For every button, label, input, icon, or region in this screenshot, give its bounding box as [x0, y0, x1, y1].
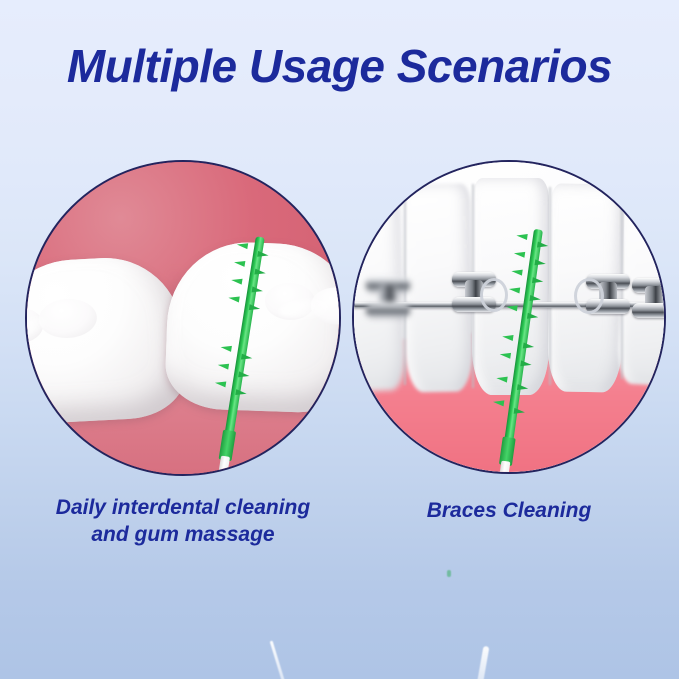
brush-handle [495, 461, 510, 474]
brush-handle [215, 456, 230, 476]
brush-bristle [499, 351, 511, 358]
brush-bristle [511, 268, 523, 275]
caption-daily-cleaning: Daily interdental cleaning and gum massa… [18, 494, 348, 548]
brush-bristle [234, 259, 246, 267]
decorative-streak [477, 646, 490, 679]
brush-bristle [516, 233, 528, 240]
brush-filament-core [225, 236, 265, 435]
interdental-brush-right [477, 226, 564, 474]
decorative-streak [270, 641, 286, 679]
page-title: Multiple Usage Scenarios [0, 40, 679, 92]
brush-bristle [493, 399, 505, 406]
brush-bristle [506, 304, 518, 311]
brush-bristle [236, 241, 248, 249]
brush-bristle [514, 250, 526, 257]
product-feature-banner: Multiple Usage Scenarios [0, 0, 679, 679]
brush-bristle [509, 286, 521, 293]
brush-bristle [220, 344, 232, 352]
caption-line: Daily interdental cleaning [18, 494, 348, 521]
braces-brush-layer [352, 160, 666, 474]
brush-bristle [228, 295, 240, 303]
decorative-speck [447, 570, 451, 577]
brush-bristle [217, 362, 229, 370]
brush-bristle [215, 380, 227, 388]
brush-bristle [502, 334, 514, 341]
brush-bristle [231, 277, 243, 285]
brush-bristle [496, 375, 508, 382]
caption-line: and gum massage [18, 521, 348, 548]
interdental-brush-left [195, 233, 287, 476]
caption-line: Braces Cleaning [352, 497, 666, 524]
caption-braces-cleaning: Braces Cleaning [352, 497, 666, 524]
daily-cleaning-brush-layer [25, 160, 341, 476]
